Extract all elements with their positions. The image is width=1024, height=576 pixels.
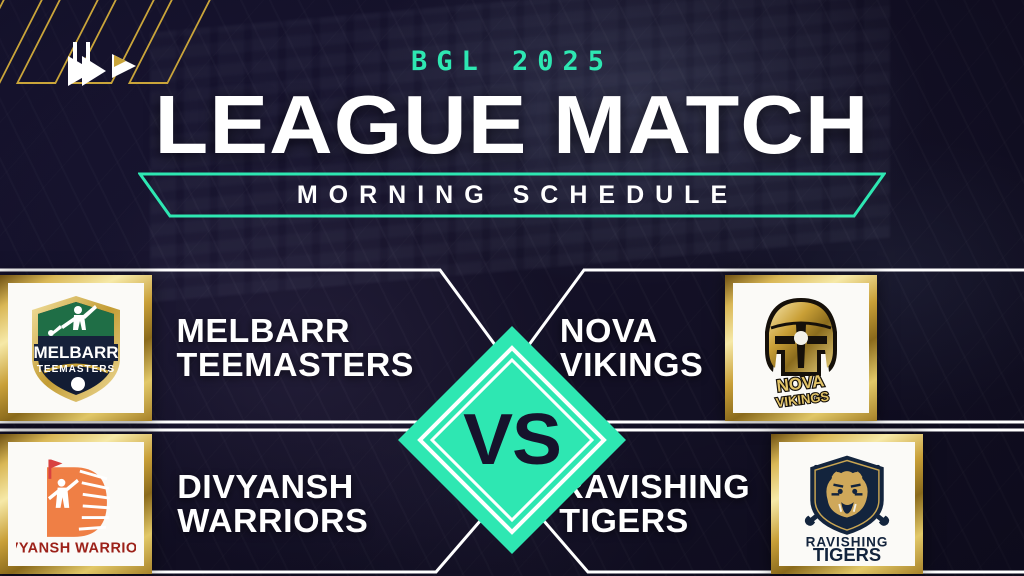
poster-header: BGL 2025 LEAGUE MATCH [0,0,1024,165]
nova-vikings-logo: NOVA VIKINGS [733,283,869,413]
poster-canvas: BGL 2025 LEAGUE MATCH MORNING SCHEDULE [0,0,1024,576]
svg-text:DIVYANSH WARRIORS: DIVYANSH WARRIORS [16,540,136,556]
warrior-d-golfer-icon: DIVYANSH WARRIORS [16,446,136,562]
svg-text:TIGERS: TIGERS [813,544,881,562]
tiger-shield-icon: RAVISHING TIGERS [787,446,907,562]
schedule-ribbon: MORNING SCHEDULE [138,171,886,219]
vs-badge: VS [392,320,632,560]
svg-text:TEEMASTERS: TEEMASTERS [37,364,115,375]
viking-helmet-icon: NOVA VIKINGS [741,288,861,408]
vs-label: VS [387,320,637,560]
page-title: LEAGUE MATCH [0,85,1024,165]
team-name: MELBARR TEEMASTERS [177,314,414,383]
melbarr-teemasters-logo: MELBARR TEEMASTERS [8,283,144,413]
event-kicker: BGL 2025 [0,46,1024,77]
team-logo-card: NOVA VIKINGS [725,275,877,421]
ravishing-tigers-logo: RAVISHING TIGERS [779,442,915,566]
divyansh-warriors-logo: DIVYANSH WARRIORS [8,442,144,566]
team-logo-card: DIVYANSH WARRIORS [0,434,152,574]
team-name: DIVYANSH WARRIORS [177,470,368,539]
team-logo-card: RAVISHING TIGERS [771,434,923,574]
shield-golfer-icon: MELBARR TEEMASTERS [16,288,136,408]
ribbon-label: MORNING SCHEDULE [138,171,886,219]
team-logo-card: MELBARR TEEMASTERS [0,275,152,421]
svg-text:MELBARR: MELBARR [34,343,119,362]
